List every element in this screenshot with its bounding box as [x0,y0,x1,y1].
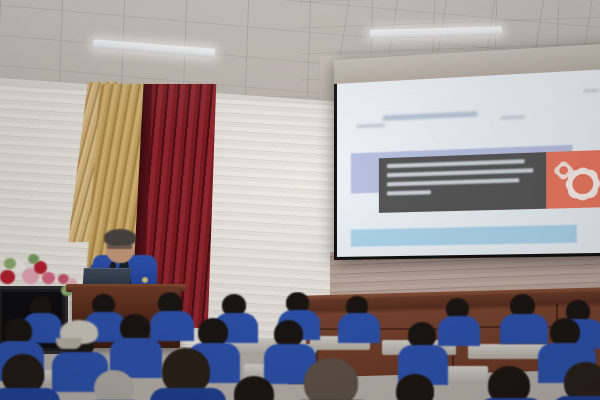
slide-title-dash-right [501,115,525,119]
seat-back [468,344,548,359]
seated-audience [0,292,600,400]
slide-text-line [387,190,431,195]
slide-corner-mark [583,89,598,93]
slide-bottom-band [351,225,577,247]
slide-title-dash-left [357,124,385,128]
flower-leaf [4,258,16,269]
gear-icon-small [556,163,571,178]
slide-title-text [383,111,478,120]
conference-hall-photo: A man in a blue work jacket speaks at a … [0,0,600,400]
slide-text-line [387,168,533,177]
gear-icon [568,169,598,198]
projection-screen [334,43,600,260]
slide-text-line [387,159,525,168]
lapel-badge [142,277,148,283]
glasses-icon [107,244,132,249]
projected-slide [337,69,600,257]
slide-text-box [379,152,546,213]
flower-leaf [28,254,39,264]
flower-petal [42,272,55,284]
speaker-hair [104,229,136,245]
slide-text-line [387,178,519,186]
slide-accent-box [546,150,600,209]
flower-petal [0,270,15,284]
